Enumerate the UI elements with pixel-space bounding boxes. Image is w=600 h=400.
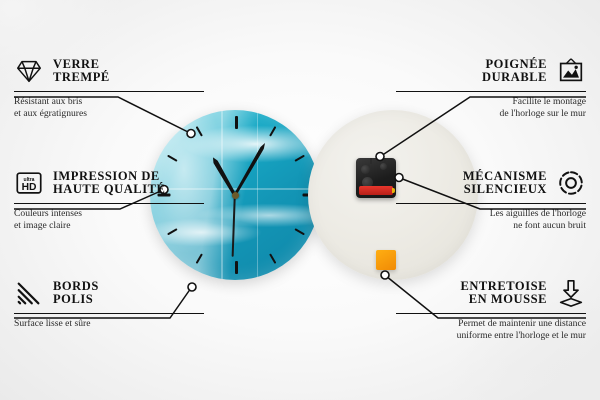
hand-cap — [232, 192, 239, 199]
quartz-mechanism — [356, 158, 396, 198]
clock-tick — [294, 155, 305, 162]
clock-tick — [269, 253, 276, 264]
callout-header: ENTRETOISEEN MOUSSE — [396, 278, 586, 308]
callout-header: VERRETREMPÉ — [14, 56, 204, 86]
second-hand — [232, 195, 236, 257]
callout-divider — [396, 203, 586, 204]
callout-verre-trempe: VERRETREMPÉ Résistant aux briset aux égr… — [14, 56, 204, 119]
mechanism-detail — [380, 163, 387, 170]
diamond-icon — [14, 56, 44, 86]
callout-title: IMPRESSION DEHAUTE QUALITÉ — [53, 170, 165, 197]
callout-divider — [14, 91, 204, 92]
callout-bords-polis: BORDSPOLIS Surface lisse et sûre — [14, 278, 204, 330]
callout-description: Surface lisse et sûre — [14, 318, 204, 329]
callout-poignee-durable: POIGNÉEDURABLE Facilite le montagede l'h… — [396, 56, 586, 119]
picture-hanger-icon — [556, 56, 586, 86]
callout-title: BORDSPOLIS — [53, 280, 99, 307]
bevel-edge-icon — [14, 278, 44, 308]
clock-tick — [235, 261, 238, 274]
svg-text:HD: HD — [22, 182, 37, 193]
infographic-canvas: VERRETREMPÉ Résistant aux briset aux égr… — [0, 0, 600, 400]
callout-description: Les aiguilles de l'horlogene font aucun … — [396, 208, 586, 231]
glass-seam-vertical-2 — [257, 110, 258, 280]
callout-title: ENTRETOISEEN MOUSSE — [460, 280, 547, 307]
foam-spacer-icon — [556, 278, 586, 308]
callout-impression-haute-qualite: ultra HD IMPRESSION DEHAUTE QUALITÉ Coul… — [14, 168, 204, 231]
callout-title: POIGNÉEDURABLE — [482, 58, 547, 85]
clock-tick — [294, 228, 305, 235]
mechanism-detail — [361, 165, 370, 174]
clock-tick — [196, 253, 203, 264]
callout-description: Permet de maintenir une distanceuniforme… — [396, 318, 586, 341]
ultra-hd-icon: ultra HD — [14, 168, 44, 198]
glass-seam-vertical — [221, 110, 223, 280]
clock-tick — [269, 126, 276, 137]
battery — [359, 186, 393, 195]
callout-divider — [396, 313, 586, 314]
callout-title: MÉCANISMESILENCIEUX — [463, 170, 547, 197]
callout-header: POIGNÉEDURABLE — [396, 56, 586, 86]
callout-description: Couleurs intenseset image claire — [14, 208, 204, 231]
callout-description: Résistant aux briset aux égratignures — [14, 96, 204, 119]
clock-tick — [235, 116, 238, 129]
callout-divider — [14, 203, 204, 204]
callout-header: ultra HD IMPRESSION DEHAUTE QUALITÉ — [14, 168, 204, 198]
gear-icon — [556, 168, 586, 198]
callout-header: MÉCANISMESILENCIEUX — [396, 168, 586, 198]
callout-divider — [396, 91, 586, 92]
foam-spacer — [376, 250, 396, 270]
callout-header: BORDSPOLIS — [14, 278, 204, 308]
callout-title: VERRETREMPÉ — [53, 58, 110, 85]
callout-entretoise-en-mousse: ENTRETOISEEN MOUSSE Permet de maintenir … — [396, 278, 586, 341]
clock-tick — [196, 126, 203, 137]
callout-mecanisme-silencieux: MÉCANISMESILENCIEUX Les aiguilles de l'h… — [396, 168, 586, 231]
callout-description: Facilite le montagede l'horloge sur le m… — [396, 96, 586, 119]
callout-divider — [14, 313, 204, 314]
clock-tick — [167, 155, 178, 162]
